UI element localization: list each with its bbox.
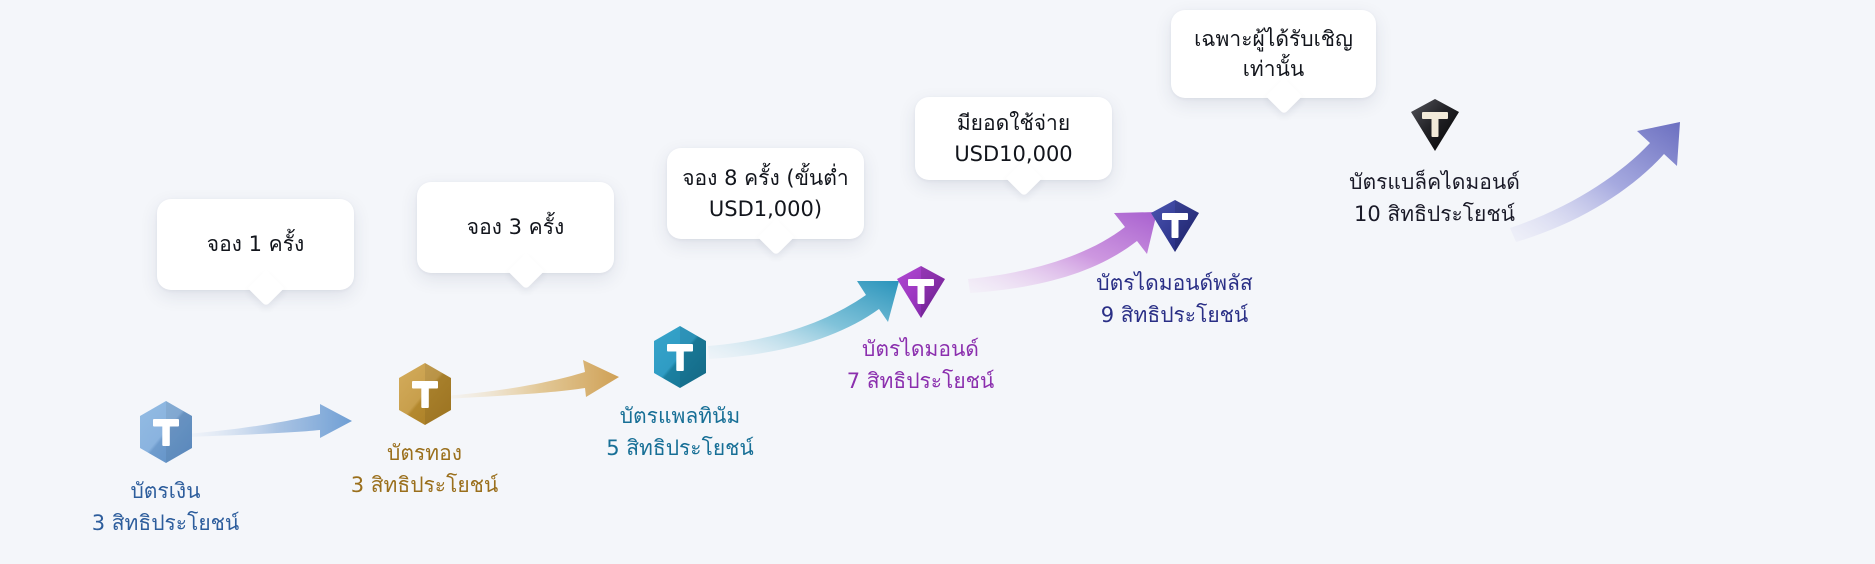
tier-progression-diagram: จอง 1 ครั้ง จอง 3 ครั้ง จอง 8 ครั้ง (ขั้…: [0, 0, 1875, 564]
tier-diamond[interactable]: บัตรไดมอนด์ 7 สิทธิประโยชน์: [813, 262, 1028, 397]
tier-black-diamond[interactable]: บัตรแบล็คไดมอนด์ 10 สิทธิประโยชน์: [1327, 95, 1542, 230]
callout-text: จอง 8 ครั้ง (ขั้นต่ำ USD1,000): [682, 163, 848, 224]
gem-badge-letter-t-icon: [1405, 95, 1465, 155]
callout-booking-1: จอง 1 ครั้ง: [157, 199, 354, 290]
tier-name: บัตรเงิน: [130, 476, 200, 508]
callout-tail: [758, 219, 795, 256]
tier-name: บัตรแบล็คไดมอนด์: [1349, 167, 1520, 199]
tier-platinum[interactable]: บัตรแพลทินัม 5 สิทธิประโยชน์: [545, 325, 815, 464]
callout-booking-8-min-usd1000: จอง 8 ครั้ง (ขั้นต่ำ USD1,000): [667, 148, 864, 239]
callout-text: เฉพาะผู้ได้รับเชิญ เท่านั้น: [1194, 24, 1353, 85]
callout-text: จอง 1 ครั้ง: [207, 229, 304, 259]
tier-benefits: 5 สิทธิประโยชน์: [606, 433, 754, 465]
tier-benefits: 3 สิทธิประโยชน์: [351, 470, 499, 502]
tier-benefits: 3 สิทธิประโยชน์: [92, 508, 240, 540]
hexagon-badge-letter-t-icon: [138, 400, 194, 464]
callout-invitation-only: เฉพาะผู้ได้รับเชิญ เท่านั้น: [1171, 10, 1376, 98]
gem-badge-letter-t-icon: [1145, 196, 1205, 256]
tier-name: บัตรไดมอนด์พลัส: [1096, 268, 1252, 300]
tier-name: บัตรแพลทินัม: [620, 401, 741, 433]
callout-text: มียอดใช้จ่าย USD10,000: [954, 108, 1072, 169]
tier-name: บัตรไดมอนด์: [862, 334, 979, 366]
callout-booking-3: จอง 3 ครั้ง: [417, 182, 614, 273]
tier-benefits: 9 สิทธิประโยชน์: [1101, 300, 1249, 332]
tier-benefits: 7 สิทธิประโยชน์: [847, 366, 995, 398]
hexagon-badge-letter-t-icon: [397, 362, 453, 426]
callout-tail: [248, 270, 285, 307]
callout-spend-usd10000: มียอดใช้จ่าย USD10,000: [915, 97, 1112, 180]
hexagon-badge-letter-t-icon: [652, 325, 708, 389]
tier-diamond-plus[interactable]: บัตรไดมอนด์พลัส 9 สิทธิประโยชน์: [1067, 196, 1282, 331]
callout-tail: [508, 253, 545, 290]
tier-benefits: 10 สิทธิประโยชน์: [1354, 199, 1515, 231]
tier-gold[interactable]: บัตรทอง 3 สิทธิประโยชน์: [317, 362, 532, 501]
tier-silver[interactable]: บัตรเงิน 3 สิทธิประโยชน์: [58, 400, 273, 539]
tier-name: บัตรทอง: [387, 438, 462, 470]
gem-badge-letter-t-icon: [891, 262, 951, 322]
callout-text: จอง 3 ครั้ง: [467, 212, 564, 242]
